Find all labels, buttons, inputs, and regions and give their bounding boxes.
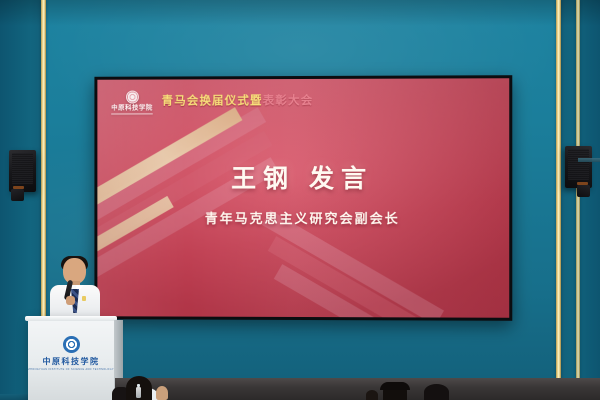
audience-member-head <box>424 384 449 400</box>
speaker-mount-bracket <box>11 189 24 201</box>
lectern-top-lip <box>25 316 117 321</box>
wall-speaker-icon-right <box>565 146 592 188</box>
water-bottle <box>136 387 141 398</box>
school-seal-icon <box>63 336 80 353</box>
slide-main-block: 王钢 发言 青年马克思主义研究会副会长 <box>97 167 509 225</box>
slide-header: 中原科技学院 青马会换届仪式暨表彰大会 <box>97 78 509 125</box>
presenter-figure <box>44 256 106 318</box>
presenter-hand <box>66 296 75 305</box>
chevron-decor <box>262 210 444 318</box>
speaker-grille <box>568 149 589 180</box>
school-seal-icon <box>126 91 139 104</box>
slide-school-logo: 中原科技学院 <box>111 91 153 115</box>
speaker-grille <box>12 153 33 184</box>
audience-member-hand <box>156 386 168 400</box>
slide-header-title-highlight: 青马会换届仪式暨 <box>162 95 263 107</box>
slide-school-name: 中原科技学院 <box>111 105 153 112</box>
lectern: 中原科技学院 ZHONGYUAN INSTITUTE OF SCIENCE AN… <box>28 316 114 400</box>
gold-wall-stripe-right-outer <box>576 0 580 400</box>
slide-speaker-role: 青年马克思主义研究会副会长 <box>97 212 509 225</box>
projection-screen-frame: 中原科技学院 青马会换届仪式暨表彰大会 王钢 发言 青年马克思主义研究会副会长 <box>94 75 512 321</box>
lectern-logo: 中原科技学院 ZHONGYUAN INSTITUTE OF SCIENCE AN… <box>28 336 114 372</box>
speaker-mount-bracket <box>577 185 590 197</box>
audience-member-cap <box>380 382 410 390</box>
audience-member-head <box>366 390 378 400</box>
gold-wall-stripe-right <box>556 0 561 400</box>
logo-divider <box>111 113 153 114</box>
lectern-school-name-en: ZHONGYUAN INSTITUTE OF SCIENCE AND TECHN… <box>28 369 114 371</box>
lectern-school-name-cn: 中原科技学院 <box>43 358 100 366</box>
slide-header-title-dim: 表彰大会 <box>263 95 314 107</box>
slide-header-title: 青马会换届仪式暨表彰大会 <box>162 96 314 108</box>
wall-rail <box>578 158 600 162</box>
conference-photo: 中原科技学院 青马会换届仪式暨表彰大会 王钢 发言 青年马克思主义研究会副会长 <box>0 0 600 400</box>
slide-speaker-name: 王钢 发言 <box>97 167 509 192</box>
projection-screen: 中原科技学院 青马会换届仪式暨表彰大会 王钢 发言 青年马克思主义研究会副会长 <box>97 78 509 318</box>
presenter-lapel-badge <box>82 296 86 301</box>
wall-speaker-icon-left <box>9 150 36 192</box>
audience-table <box>115 378 600 400</box>
